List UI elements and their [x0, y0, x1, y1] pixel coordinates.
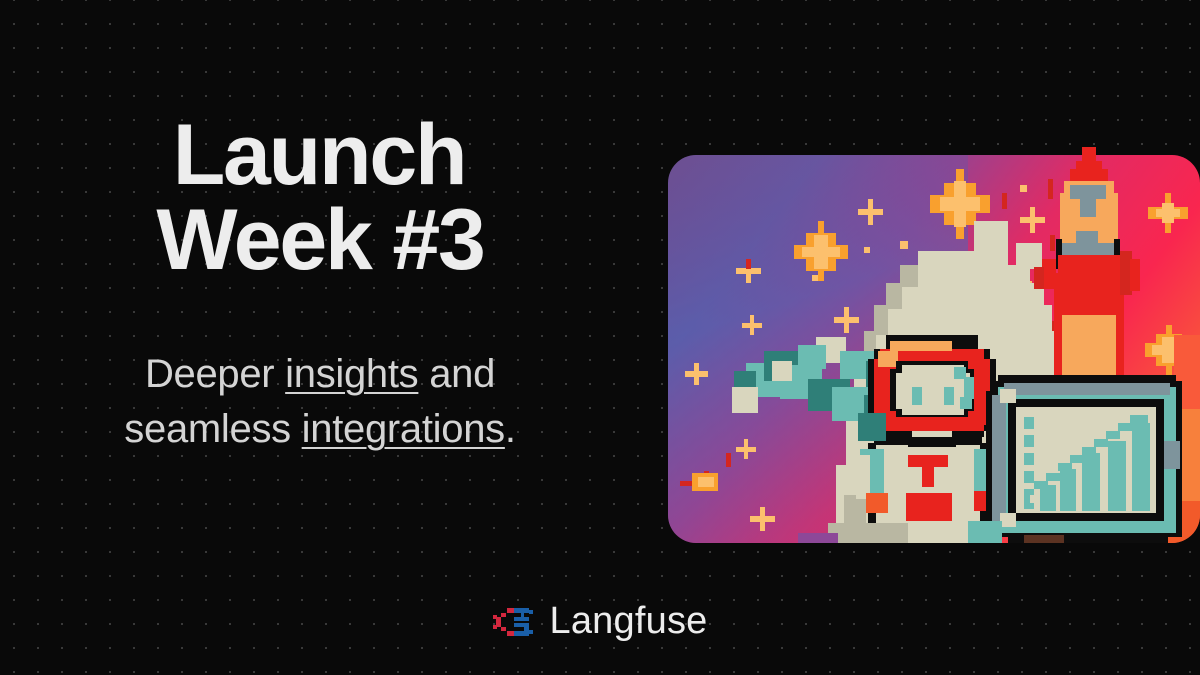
subtitle-emphasis-insights: insights [285, 352, 418, 396]
page-subtitle: Deeper insights and seamless integration… [40, 347, 600, 457]
langfuse-logo-icon [493, 605, 533, 639]
headline-line-2: Week #3 [100, 198, 540, 283]
page-title: Launch Week #3 [100, 113, 540, 283]
pixel-art-space-scene [668, 155, 1200, 543]
monitor [986, 375, 1182, 543]
ground-haze [798, 521, 1002, 543]
brand-name: Langfuse [550, 600, 708, 643]
launch-week-slide: Launch Week #3 Deeper insights and seaml… [0, 0, 1200, 675]
subtitle-suffix-2: . [505, 407, 516, 451]
illustration [668, 155, 1200, 543]
illustration-card [668, 155, 1200, 543]
text-column: Launch Week #3 Deeper insights and seaml… [0, 0, 640, 580]
brand-lockup: Langfuse [0, 600, 1200, 643]
subtitle-line-2: seamless integrations. [40, 402, 600, 457]
astronaut [856, 335, 1000, 543]
subtitle-emphasis-integrations: integrations [302, 407, 505, 451]
subtitle-prefix-1: Deeper [145, 352, 285, 396]
headline-line-1: Launch [98, 113, 540, 198]
subtitle-suffix-1: and [418, 352, 495, 396]
subtitle-prefix-2: seamless [124, 407, 301, 451]
subtitle-line-1: Deeper insights and [40, 347, 600, 402]
